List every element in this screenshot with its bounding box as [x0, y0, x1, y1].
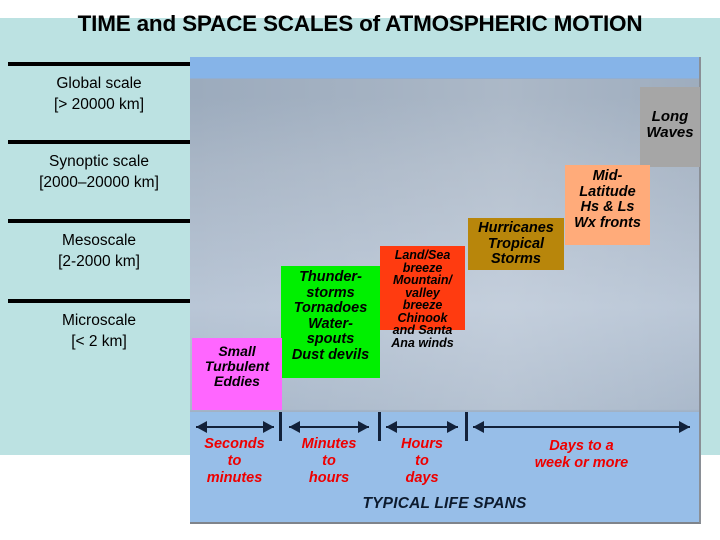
box-line: spouts [281, 332, 380, 348]
axis-arrow-days-to-a-week [473, 421, 690, 433]
box-line: Small [192, 344, 282, 359]
axis-label-line: hours [283, 470, 375, 487]
axis-label-line: days [380, 470, 464, 487]
legend-row-microscale: Microscale [< 2 km] [8, 303, 190, 380]
axis-label-line: Days to a [473, 438, 690, 455]
box-line: Water- [281, 317, 380, 333]
axis-label-line: Hours [380, 436, 464, 453]
phenomenon-box-small-turbulent-eddies: Small Turbulent Eddies [192, 338, 282, 410]
axis-label-line: Seconds [190, 436, 279, 453]
legend-row-synoptic-scale: Synoptic scale [2000–20000 km] [8, 144, 190, 219]
legend-row-name: Mesoscale [8, 231, 190, 252]
axis-label-days-to-a-week: Days to a week or more [473, 438, 690, 472]
box-line: and Santa [380, 324, 465, 337]
axis-label-line: to [283, 453, 375, 470]
phenomenon-box-long-waves: Long Waves [640, 87, 700, 167]
arrow-head-left-icon [386, 421, 397, 433]
box-line: Eddies [192, 374, 282, 389]
box-line: storms [281, 286, 380, 302]
box-line: Wx fronts [565, 216, 650, 232]
arrow-head-left-icon [473, 421, 484, 433]
arrow-head-left-icon [289, 421, 300, 433]
box-line: Latitude [565, 185, 650, 201]
box-line: Tropical [468, 237, 564, 253]
axis-arrow-minutes-to-hours [289, 421, 369, 433]
box-line: Hs & Ls [565, 200, 650, 216]
arrow-head-left-icon [196, 421, 207, 433]
box-line: Dust devils [281, 348, 380, 364]
time-axis: Seconds to minutes Minutes to hours [190, 412, 699, 522]
axis-tick-separator-3 [465, 412, 468, 441]
axis-tick-separator-1 [279, 412, 282, 441]
box-line: Mountain/ [380, 274, 465, 287]
legend-row-mesoscale: Mesoscale [2-2000 km] [8, 223, 190, 299]
axis-label-line: week or more [473, 455, 690, 472]
axis-label-hours-to-days: Hours to days [380, 436, 464, 486]
legend-row-range: [2000–20000 km] [8, 173, 190, 194]
legend-row-range: [> 20000 km] [8, 95, 190, 116]
arrow-head-right-icon [679, 421, 690, 433]
slide-canvas: TIME and SPACE SCALES of ATMOSPHERIC MOT… [0, 0, 720, 540]
box-line: Hurricanes [468, 221, 564, 237]
box-line: Waves [640, 125, 700, 141]
axis-label-seconds-to-minutes: Seconds to minutes [190, 436, 279, 486]
legend-row-range: [2-2000 km] [8, 252, 190, 273]
box-line: Long [640, 109, 700, 125]
legend-row-global-scale: Global scale [> 20000 km] [8, 66, 190, 140]
box-line: Turbulent [192, 359, 282, 374]
axis-label-line: Minutes [283, 436, 375, 453]
arrow-head-right-icon [263, 421, 274, 433]
page-title: TIME and SPACE SCALES of ATMOSPHERIC MOT… [40, 10, 680, 37]
axis-arrow-hours-to-days [386, 421, 458, 433]
legend-row-name: Global scale [8, 74, 190, 95]
arrow-line [473, 426, 690, 428]
phenomenon-box-hurricanes: Hurricanes Tropical Storms [468, 218, 564, 270]
box-line: Mid- [565, 169, 650, 185]
axis-label-line: to [190, 453, 279, 470]
box-line: Storms [468, 252, 564, 268]
axis-caption: TYPICAL LIFE SPANS [190, 495, 699, 513]
arrow-head-right-icon [358, 421, 369, 433]
arrow-line [289, 426, 369, 428]
scale-legend: Global scale [> 20000 km] Synoptic scale… [8, 62, 190, 380]
box-line: Thunder- [281, 270, 380, 286]
box-line: Tornadoes [281, 301, 380, 317]
arrow-head-right-icon [447, 421, 458, 433]
scales-diagram: Long Waves Mid- Latitude Hs & Ls Wx fron… [190, 57, 701, 524]
phenomenon-box-land-sea-breeze: Land/Sea breeze Mountain/ valley breeze … [380, 246, 465, 330]
box-line: Land/Sea [380, 249, 465, 262]
axis-label-line: to [380, 453, 464, 470]
legend-row-name: Synoptic scale [8, 152, 190, 173]
axis-label-minutes-to-hours: Minutes to hours [283, 436, 375, 486]
legend-row-range: [< 2 km] [8, 332, 190, 353]
axis-label-line: minutes [190, 470, 279, 487]
box-line: Ana winds [380, 337, 465, 350]
phenomenon-box-thunderstorms: Thunder- storms Tornadoes Water- spouts … [281, 266, 380, 378]
axis-arrow-seconds-to-minutes [196, 421, 274, 433]
box-line: breeze [380, 299, 465, 312]
legend-row-name: Microscale [8, 311, 190, 332]
phenomenon-box-mid-latitude: Mid- Latitude Hs & Ls Wx fronts [565, 165, 650, 245]
